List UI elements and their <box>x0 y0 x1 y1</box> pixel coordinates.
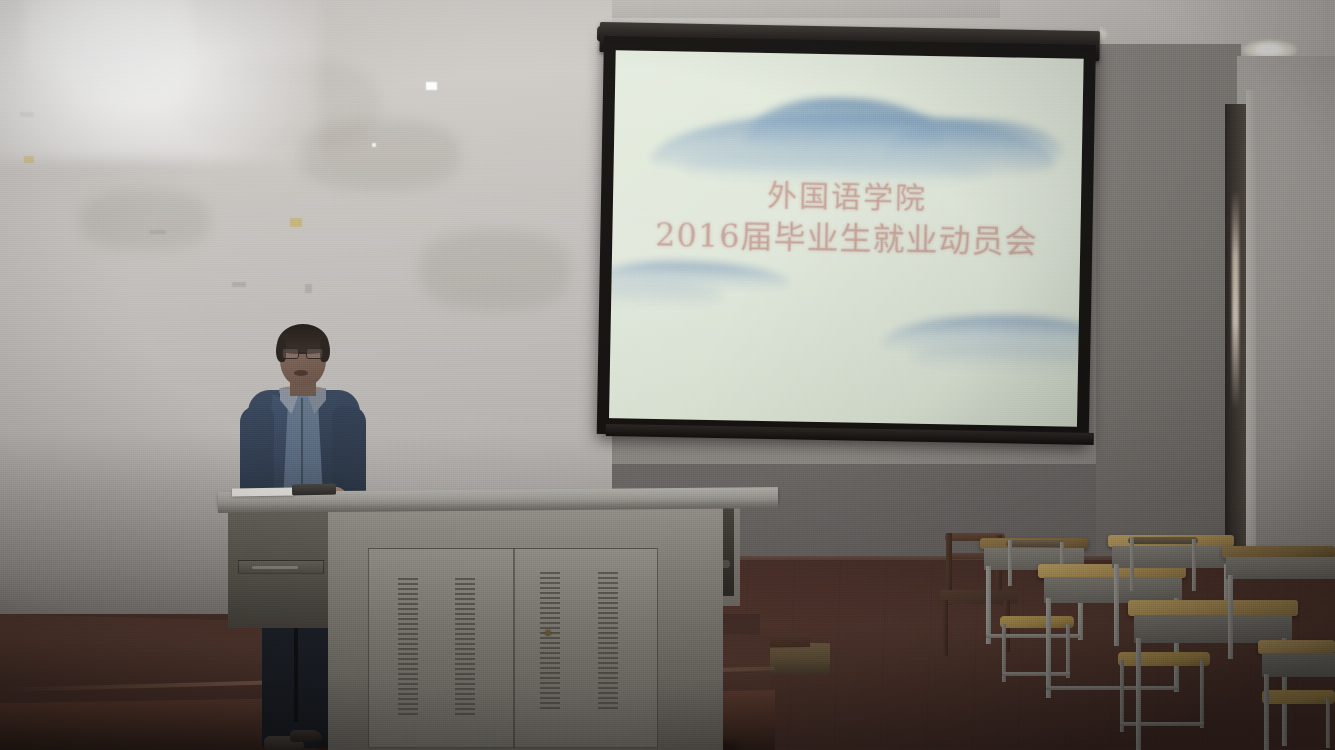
open-doorway <box>1225 104 1247 590</box>
wall-highlight-dot <box>426 82 437 90</box>
presenter-mouth <box>294 370 308 376</box>
lecture-hall-photo: 外国语学院 2016届毕业生就业动员会 <box>0 0 1335 750</box>
projection-screen-surface: 外国语学院 2016届毕业生就业动员会 <box>609 50 1084 427</box>
doorway-light <box>1232 190 1239 410</box>
ceiling-spotlight-2-core <box>1256 44 1280 53</box>
wall-mark-yellow <box>290 218 302 227</box>
glasses-lens-right <box>306 348 323 359</box>
presenter-shoe-right <box>290 730 322 742</box>
console-vent-2 <box>455 578 475 716</box>
slide-title-block: 外国语学院 2016届毕业生就业动员会 <box>612 175 1081 263</box>
slide-title-line-2: 2016届毕业生就业动员会 <box>612 214 1081 264</box>
wall-mark <box>150 230 166 234</box>
console-vent-3 <box>540 572 560 710</box>
paper-sheet[interactable] <box>232 487 294 496</box>
door-frame <box>1246 90 1256 610</box>
podium-drawer-handle[interactable] <box>252 566 298 569</box>
wall-highlight-dot <box>372 143 376 147</box>
desk-device[interactable] <box>292 484 336 496</box>
wall-mark <box>305 284 312 293</box>
wall-smudge <box>80 190 210 250</box>
projection-screen[interactable]: 外国语学院 2016届毕业生就业动员会 <box>597 36 1096 443</box>
glasses-bridge <box>299 352 306 354</box>
console-panel-seam <box>513 548 515 748</box>
glasses-lens-left <box>282 348 299 359</box>
wall-mark <box>232 282 246 287</box>
mountain-band-right-soft <box>909 343 1083 372</box>
console-vent-1 <box>398 578 418 716</box>
console-vent-4 <box>598 572 618 710</box>
console-lock-knob[interactable] <box>545 630 551 636</box>
glasses-icon <box>282 348 324 360</box>
wall-smudge <box>420 230 570 310</box>
whiteboard-glare-core <box>24 0 194 80</box>
